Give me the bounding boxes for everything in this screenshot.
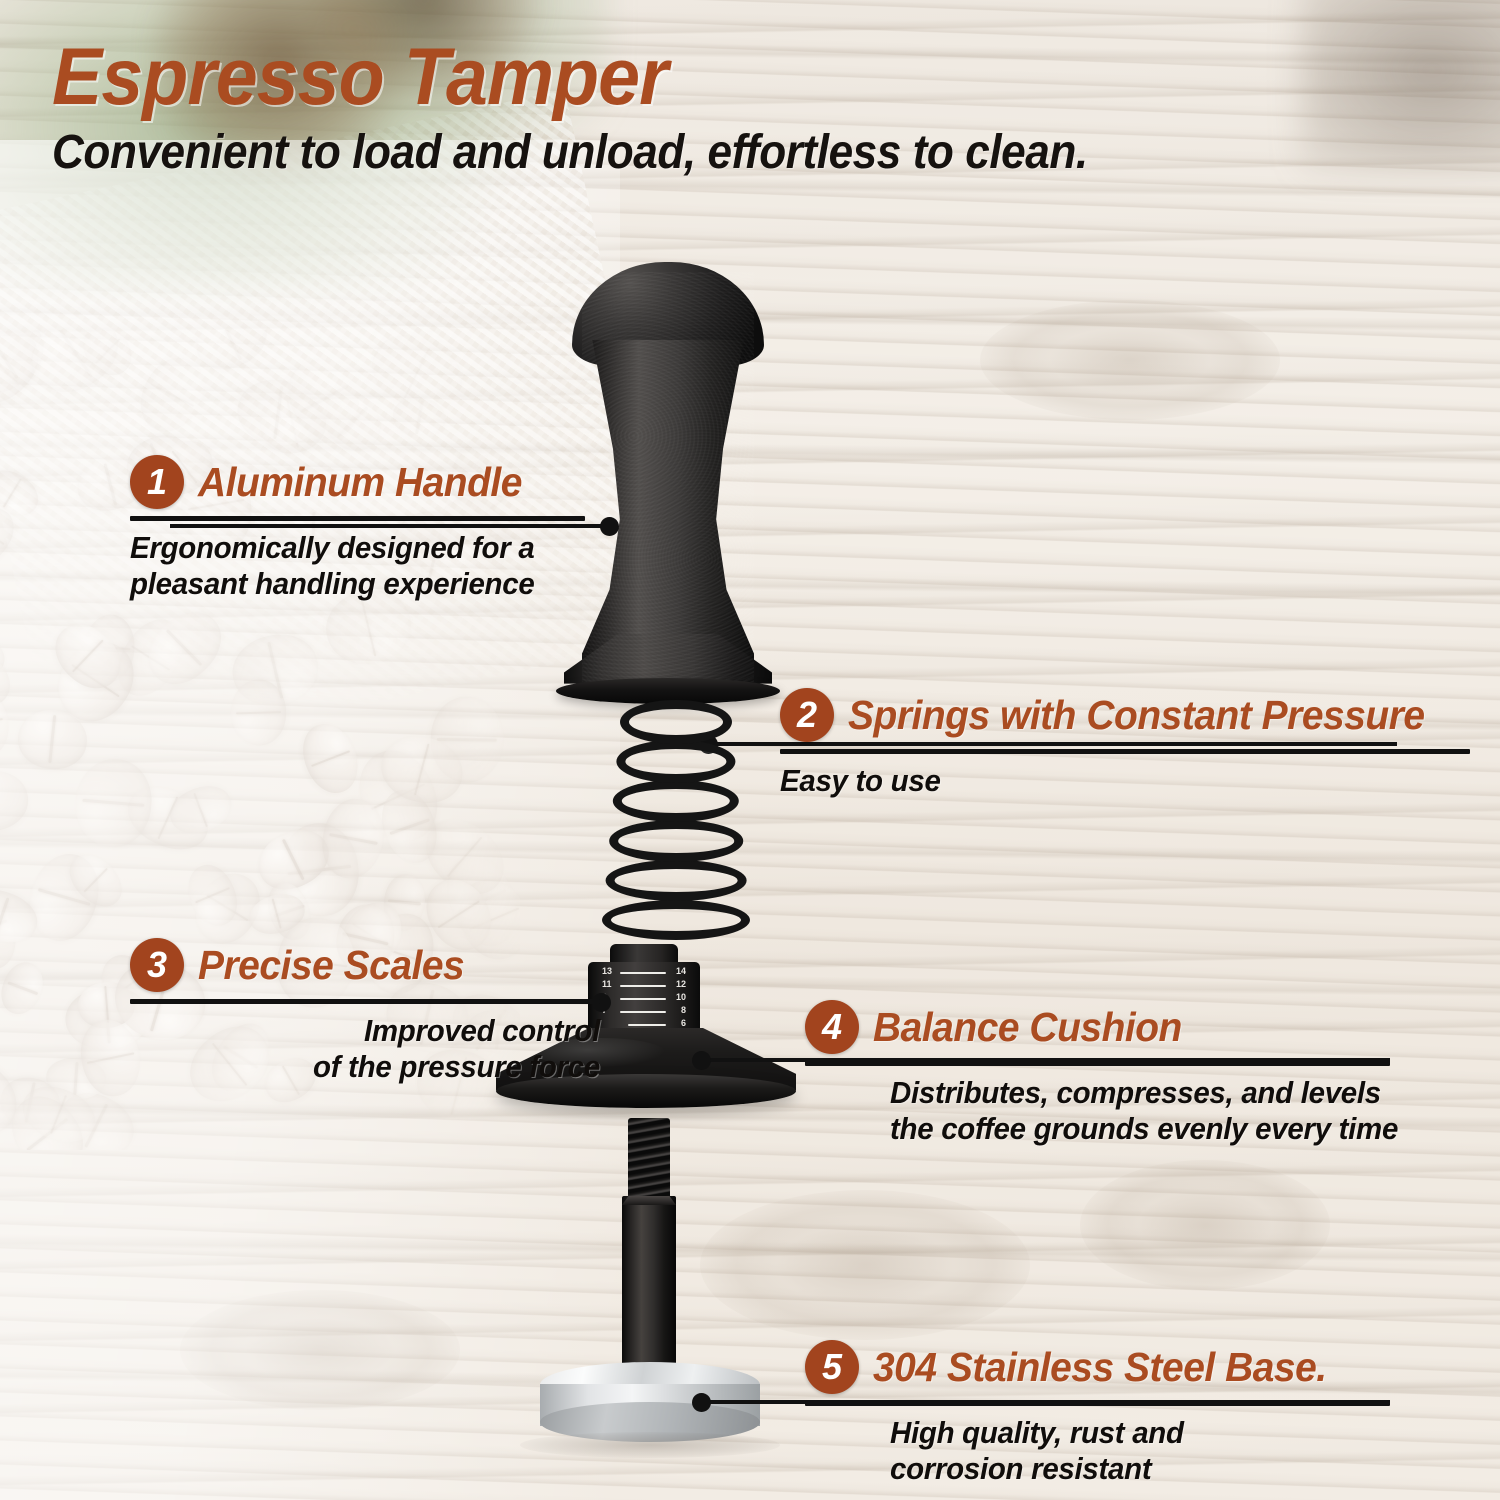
callout-5-stainless-steel-base[interactable]: 5 304 Stainless Steel Base. High quality… (805, 1340, 1470, 1488)
callout-5-badge: 5 (805, 1340, 859, 1394)
callout-3-description: Improved control of the pressure force (154, 1013, 601, 1086)
callout-5-description: High quality, rust and corrosion resista… (890, 1415, 1441, 1488)
callout-3-desc-line-1: Improved control (154, 1013, 601, 1049)
callout-1-description: Ergonomically designed for a pleasant ha… (130, 530, 562, 603)
callout-3-badge: 3 (130, 938, 184, 992)
callout-4-desc-line-2: the coffee grounds evenly every time (890, 1111, 1441, 1147)
wood-knot (980, 300, 1280, 420)
callout-5-desc-line-1: High quality, rust and (890, 1415, 1441, 1451)
leader-dot-4 (692, 1051, 711, 1070)
callout-5-head: 5 304 Stainless Steel Base. (805, 1340, 1470, 1394)
callout-5-desc-line-2: corrosion resistant (890, 1451, 1441, 1487)
callout-2-title: Springs with Constant Pressure (848, 692, 1425, 739)
white-wash-overlay (0, 140, 620, 1500)
page-title: Espresso Tamper (52, 36, 1354, 119)
callout-4-description: Distributes, compresses, and levels the … (890, 1075, 1441, 1148)
callout-2-head: 2 Springs with Constant Pressure (780, 688, 1470, 742)
callout-4-balance-cushion[interactable]: 4 Balance Cushion Distributes, compresse… (805, 1000, 1470, 1148)
callout-2-badge: 2 (780, 688, 834, 742)
callout-2-description: Easy to use (780, 763, 1436, 799)
callout-1-desc-line-1: Ergonomically designed for a (130, 530, 562, 566)
callout-3-head: 3 Precise Scales (130, 938, 600, 992)
callout-1-rule (130, 516, 585, 521)
callout-4-rule (805, 1061, 1390, 1066)
page-subtitle: Convenient to load and unload, effortles… (52, 125, 1340, 180)
leader-dot-2 (699, 735, 718, 754)
wood-knot (700, 1190, 1030, 1340)
callout-1-title: Aluminum Handle (198, 459, 522, 506)
callout-4-title: Balance Cushion (873, 1004, 1182, 1051)
callout-1-aluminum-handle[interactable]: 1 Aluminum Handle Ergonomically designed… (130, 455, 585, 603)
callout-5-rule (805, 1401, 1390, 1406)
leader-dot-1 (600, 517, 619, 536)
callout-4-head: 4 Balance Cushion (805, 1000, 1470, 1054)
callout-3-precise-scales[interactable]: 3 Precise Scales Improved control of the… (130, 938, 600, 1086)
callout-2-springs[interactable]: 2 Springs with Constant Pressure Easy to… (780, 688, 1470, 799)
callout-1-head: 1 Aluminum Handle (130, 455, 585, 509)
callout-3-title: Precise Scales (198, 942, 464, 989)
callout-1-badge: 1 (130, 455, 184, 509)
callout-1-desc-line-2: pleasant handling experience (130, 566, 562, 602)
callout-3-rule (130, 999, 600, 1004)
leader-dot-5 (692, 1393, 711, 1412)
callout-2-rule (780, 749, 1470, 754)
callout-3-desc-line-2: of the pressure force (154, 1049, 601, 1085)
callout-2-desc-line-1: Easy to use (780, 763, 1436, 799)
infographic-canvas: 13141112910786 Espresso Tamper Convenien… (0, 0, 1500, 1500)
callout-4-desc-line-1: Distributes, compresses, and levels (890, 1075, 1441, 1111)
callout-4-badge: 4 (805, 1000, 859, 1054)
header: Espresso Tamper Convenient to load and u… (52, 36, 1452, 180)
wood-knot (1080, 1160, 1330, 1290)
callout-5-title: 304 Stainless Steel Base. (873, 1344, 1327, 1391)
